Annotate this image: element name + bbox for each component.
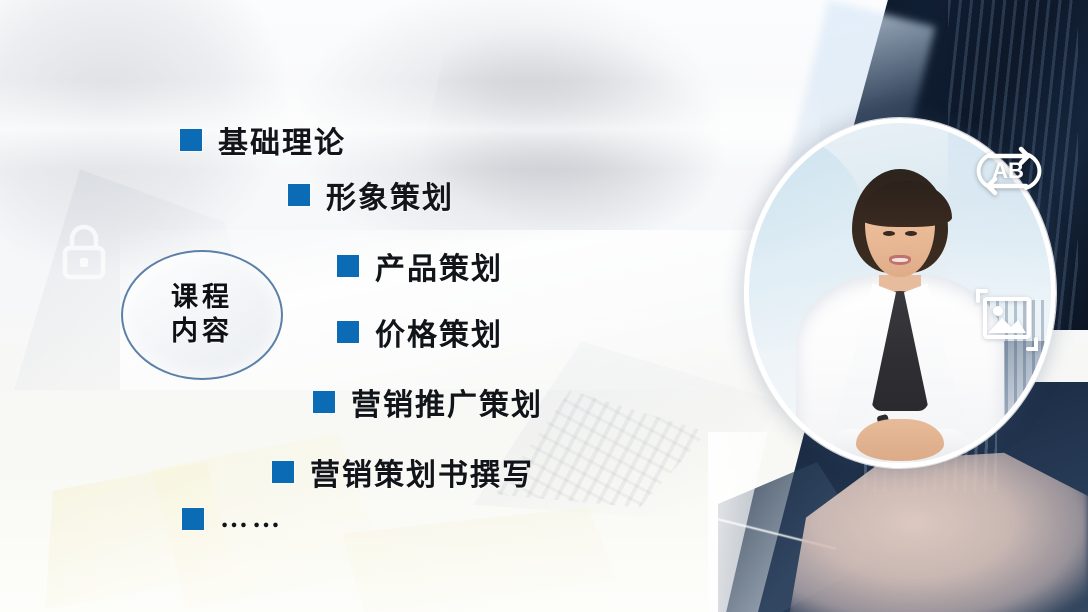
bullet-square-icon — [182, 508, 204, 530]
presenter-eyebrow-right — [903, 223, 919, 226]
bullet-square-icon — [288, 184, 310, 206]
bullet-item: 价格策划 — [337, 310, 503, 354]
presenter-head — [859, 179, 941, 283]
bullet-label: 基础理论 — [218, 118, 346, 162]
bullet-item: 形象策划 — [288, 173, 454, 217]
bullet-square-icon — [272, 461, 294, 483]
bullet-square-icon — [180, 129, 202, 151]
translate-swap-icon[interactable]: AB — [970, 140, 1046, 202]
bullet-square-icon — [337, 321, 359, 343]
presenter-eyebrow-left — [881, 223, 897, 226]
bullet-item: 营销策划书撰写 — [272, 450, 534, 494]
bullet-label: 价格策划 — [375, 310, 503, 354]
bullet-item: 基础理论 — [180, 118, 346, 162]
bullet-label: 产品策划 — [375, 244, 503, 288]
bullet-label: 营销策划书撰写 — [310, 450, 534, 494]
presenter-mouth — [889, 255, 911, 265]
translate-icon-label: AB — [992, 158, 1024, 183]
bullet-label: …… — [220, 503, 284, 535]
bullet-item: 营销推广策划 — [313, 380, 543, 424]
presenter-eye-right — [905, 231, 917, 236]
bullet-item: …… — [182, 503, 284, 535]
bullet-item: 产品策划 — [337, 244, 503, 288]
image-placeholder-icon[interactable] — [972, 285, 1042, 355]
bullet-square-icon — [337, 255, 359, 277]
presenter-eye-left — [883, 231, 895, 236]
slide-canvas: 课程 内容 基础理论形象策划产品策划价格策划营销推广策划营销策划书撰写…… — [0, 0, 1088, 612]
course-content-bullet-list: 基础理论形象策划产品策划价格策划营销推广策划营销策划书撰写…… — [0, 0, 760, 612]
bullet-label: 营销推广策划 — [351, 380, 543, 424]
bullet-label: 形象策划 — [326, 173, 454, 217]
presenter-clasped-hands — [856, 419, 944, 461]
bullet-square-icon — [313, 391, 335, 413]
